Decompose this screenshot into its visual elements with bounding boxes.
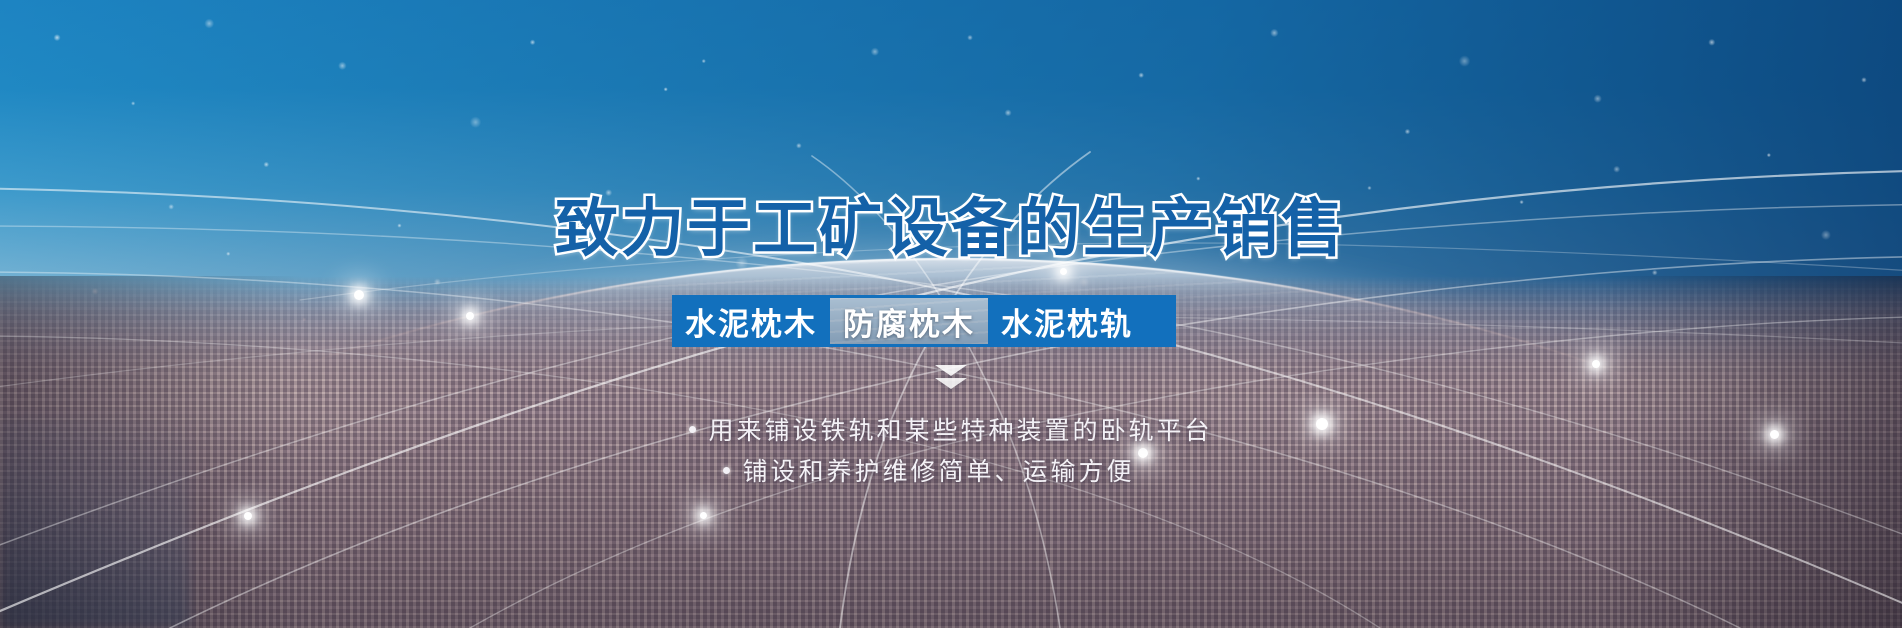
product-badge-cement-rail[interactable]: 水泥枕轨 <box>988 295 1146 347</box>
bullet-dot-icon <box>723 467 730 474</box>
hero-banner: 致力于工矿设备的生产销售 水泥枕木 防腐枕木 水泥枕轨 用来铺设铁轨和某些特种装… <box>0 0 1902 628</box>
chevron-double-down-icon <box>0 365 1902 389</box>
list-item-label: 用来铺设铁轨和某些特种装置的卧轨平台 <box>708 416 1212 445</box>
chevron-down-icon <box>935 365 967 376</box>
product-badge-anticorrosive-sleeper[interactable]: 防腐枕木 <box>830 298 988 344</box>
banner-content: 致力于工矿设备的生产销售 水泥枕木 防腐枕木 水泥枕轨 用来铺设铁轨和某些特种装… <box>0 0 1902 628</box>
list-item-label: 铺设和养护维修简单、运输方便 <box>742 457 1134 486</box>
product-badge-bar: 水泥枕木 防腐枕木 水泥枕轨 <box>672 295 1176 347</box>
bullet-dot-icon <box>689 426 696 433</box>
chevron-down-icon <box>935 378 967 389</box>
page-title: 致力于工矿设备的生产销售 <box>0 196 1902 262</box>
list-item: 铺设和养护维修简单、运输方便 <box>0 451 1902 492</box>
list-item: 用来铺设铁轨和某些特种装置的卧轨平台 <box>0 410 1902 451</box>
feature-bullet-list: 用来铺设铁轨和某些特种装置的卧轨平台 铺设和养护维修简单、运输方便 <box>0 410 1902 492</box>
product-badge-cement-sleeper[interactable]: 水泥枕木 <box>672 295 830 347</box>
